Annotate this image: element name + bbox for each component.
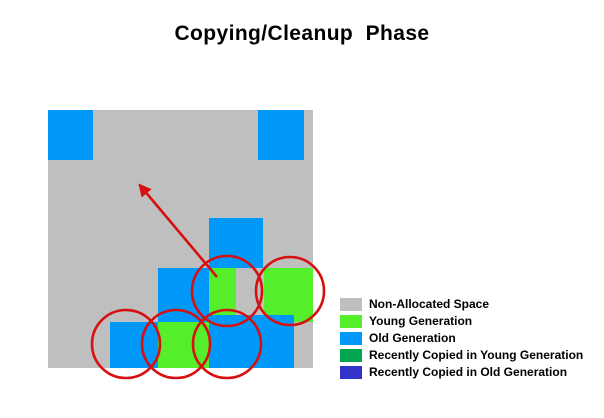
legend-item: Non-Allocated Space <box>340 296 598 313</box>
legend-label: Non-Allocated Space <box>369 298 489 311</box>
old-gen-block-mid-top <box>209 218 263 268</box>
legend-label: Young Generation <box>369 315 472 328</box>
generation-legend: Non-Allocated SpaceYoung GenerationOld G… <box>340 296 598 381</box>
legend-swatch-old-generation <box>340 332 362 345</box>
legend-swatch-non-allocated <box>340 298 362 311</box>
old-gen-block-bottom-right <box>209 315 294 368</box>
legend-item: Old Generation <box>340 330 598 347</box>
old-gen-block-bottom-left <box>110 322 158 368</box>
page-title: Copying/Cleanup Phase <box>0 22 604 46</box>
legend-swatch-recently-copied-young <box>340 349 362 362</box>
old-gen-block-top-left <box>48 110 93 160</box>
heap-memory-map <box>48 110 313 368</box>
slide-canvas: Copying/Cleanup Phase Non-Allocated Spac… <box>0 0 604 418</box>
legend-label: Recently Copied in Young Generation <box>369 349 583 362</box>
old-gen-block-mid-left <box>158 268 209 322</box>
legend-swatch-recently-copied-old <box>340 366 362 379</box>
legend-item: Recently Copied in Young Generation <box>340 347 598 364</box>
legend-label: Old Generation <box>369 332 456 345</box>
young-gen-block-mid-center <box>209 268 236 322</box>
legend-swatch-young-generation <box>340 315 362 328</box>
legend-item: Recently Copied in Old Generation <box>340 364 598 381</box>
young-gen-block-mid-right <box>264 268 313 322</box>
legend-label: Recently Copied in Old Generation <box>369 366 567 379</box>
legend-item: Young Generation <box>340 313 598 330</box>
young-gen-block-bottom <box>158 322 209 368</box>
old-gen-block-top-right <box>258 110 304 160</box>
